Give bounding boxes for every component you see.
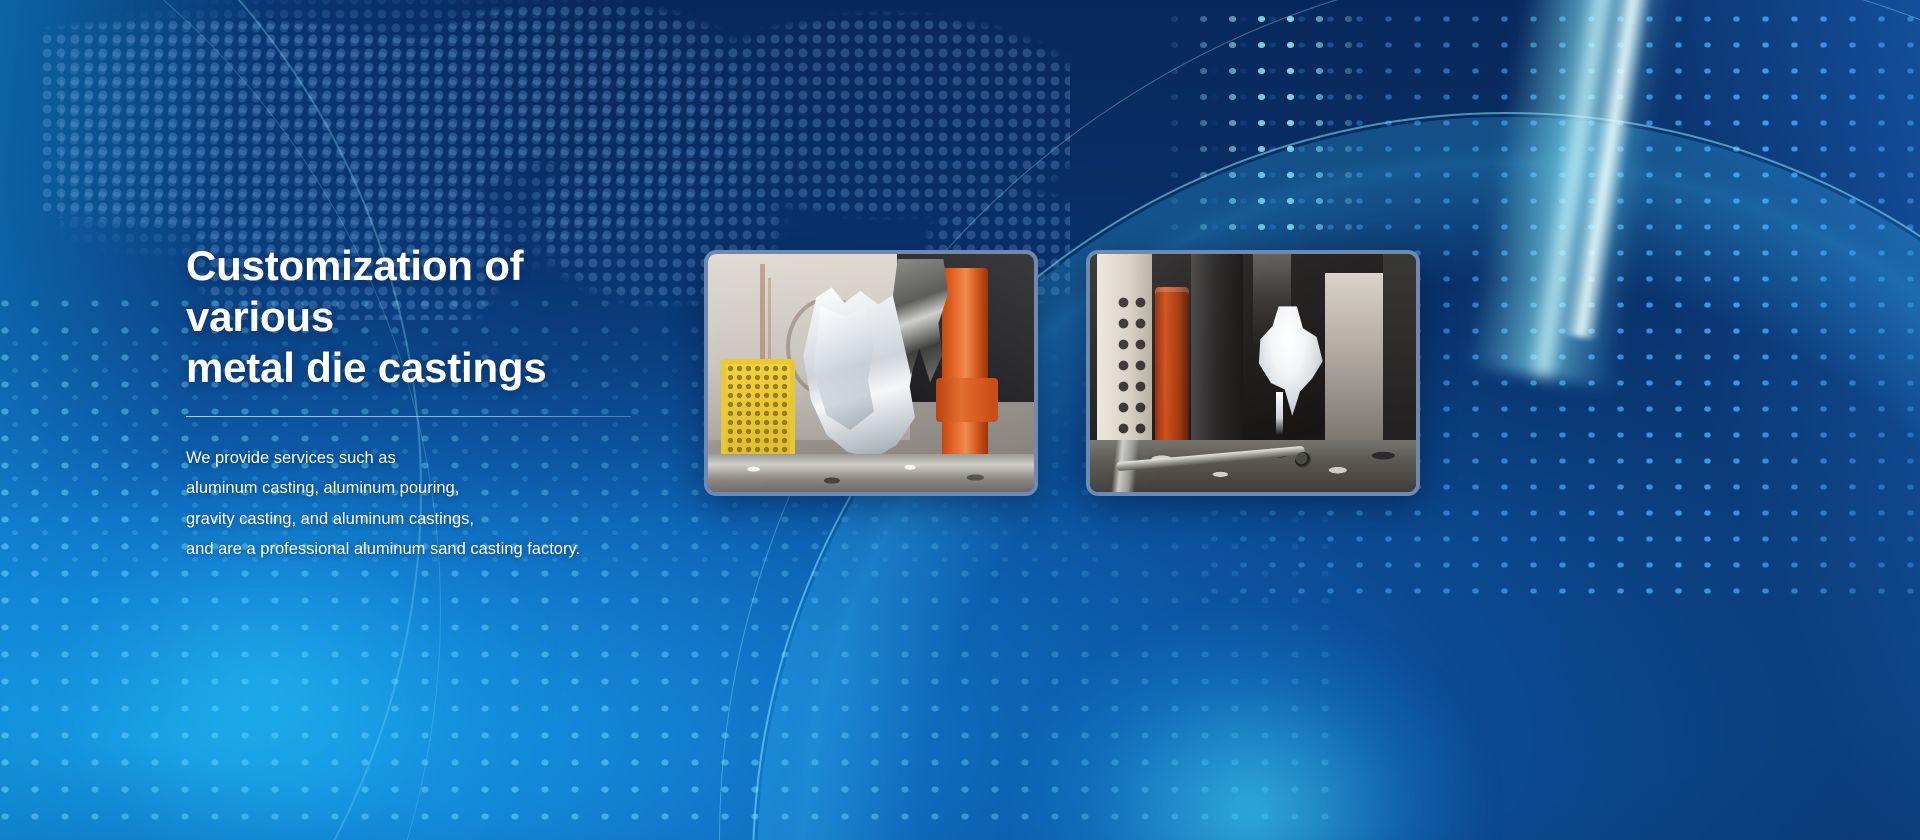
photo-2-dark-column <box>1191 254 1243 468</box>
description-line-4: and are a professional aluminum sand cas… <box>186 534 656 565</box>
title-divider <box>186 416 631 417</box>
photo-2-content <box>1090 254 1416 492</box>
hero-banner: Customization of various metal die casti… <box>0 0 1920 840</box>
page-title: Customization of various metal die casti… <box>186 240 656 394</box>
photo-molten-aluminium-pour <box>1086 250 1420 496</box>
hero-description: We provide services such as aluminum cas… <box>186 443 656 565</box>
headline-line-1: Customization of various <box>186 242 523 340</box>
headline-line-2: metal die castings <box>186 344 547 391</box>
description-line-2: aluminum casting, aluminum pouring, <box>186 473 656 504</box>
hero-text-block: Customization of various metal die casti… <box>186 240 656 565</box>
hero-photo-group <box>704 250 1420 496</box>
photo-2-perforated-panel <box>1097 254 1152 463</box>
description-line-1: We provide services such as <box>186 443 656 474</box>
photo-2-right-shadow <box>1383 254 1416 459</box>
photo-2-metal-drip <box>1276 392 1283 435</box>
photo-1-orange-collar <box>936 378 998 422</box>
photo-1-content <box>708 254 1034 492</box>
photo-1-floor <box>708 454 1034 492</box>
photo-die-casting-part-extraction <box>704 250 1038 496</box>
description-line-3: gravity casting, and aluminum castings, <box>186 504 656 535</box>
